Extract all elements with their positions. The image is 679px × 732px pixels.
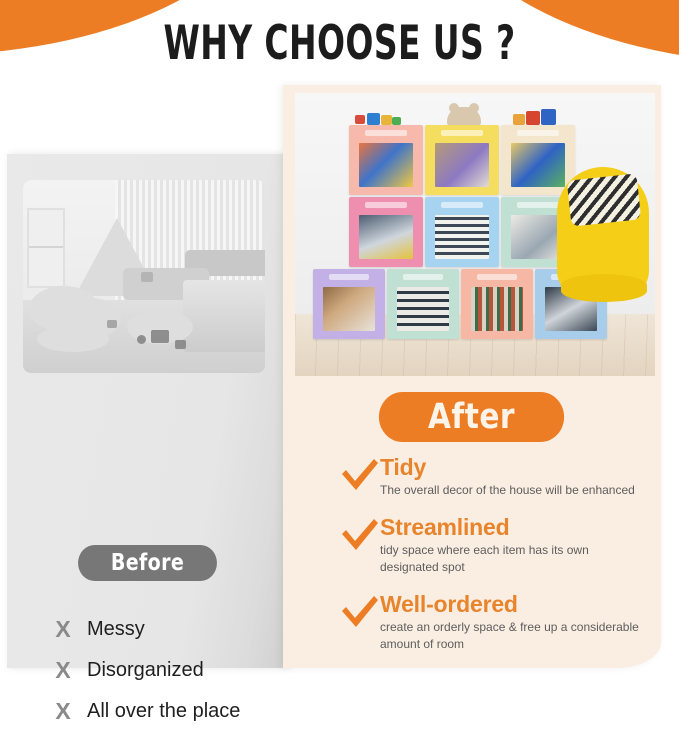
check-mark-icon: [340, 457, 380, 495]
after-photo-toy: [526, 111, 540, 125]
page-title: WHY CHOOSE US ?: [75, 16, 605, 71]
x-mark-icon: X: [50, 618, 76, 641]
after-list: Tidy The overall decor of the house will…: [340, 455, 670, 669]
before-badge: Before: [78, 545, 217, 581]
list-item: X All over the place: [50, 691, 285, 732]
bin-window: [435, 215, 488, 258]
list-item-label: All over the place: [87, 700, 240, 723]
before-photo-bed: [183, 280, 265, 352]
after-badge: After: [379, 392, 564, 442]
after-photo-toy: [392, 117, 401, 125]
after-photo: [295, 93, 655, 376]
bin-handle: [329, 274, 369, 280]
before-photo: [23, 180, 265, 373]
list-item-description: create an orderly space & free up a cons…: [380, 619, 670, 653]
storage-bin: [425, 125, 499, 195]
list-item: Well-ordered create an orderly space & f…: [340, 592, 670, 653]
before-list: X Messy X Disorganized X All over the pl…: [50, 609, 285, 732]
bin-window: [435, 143, 488, 186]
before-photo-shelf: [27, 208, 65, 288]
list-item: Streamlined tidy space where each item h…: [340, 515, 670, 576]
after-photo-toy: [541, 109, 556, 125]
list-item: Tidy The overall decor of the house will…: [340, 455, 670, 499]
x-mark-icon: X: [50, 659, 76, 682]
before-photo-toy: [141, 272, 153, 282]
list-item-label: Disorganized: [87, 659, 204, 682]
list-item-title: Tidy: [380, 454, 426, 480]
storage-bin: [461, 269, 533, 339]
storage-bin: [387, 269, 459, 339]
bin-window: [471, 287, 523, 330]
storage-bin: [313, 269, 385, 339]
bin-handle: [441, 130, 482, 136]
list-item-description: The overall decor of the house will be e…: [380, 482, 645, 499]
list-item-title: Well-ordered: [380, 591, 518, 617]
check-mark-icon: [340, 517, 380, 555]
list-item-description: tidy space where each item has its own d…: [380, 542, 645, 576]
list-item: X Messy: [50, 609, 285, 650]
before-photo-toy: [175, 340, 186, 349]
before-photo-toy: [107, 320, 117, 328]
after-photo-chair-base: [561, 274, 647, 302]
before-panel: Before X Messy X Disorganized X All over…: [7, 154, 288, 668]
bin-window: [397, 287, 449, 330]
x-mark-icon: X: [50, 700, 76, 723]
after-photo-toy: [367, 113, 380, 125]
storage-bin: [425, 197, 499, 267]
list-item-title: Streamlined: [380, 514, 509, 540]
bin-window: [323, 287, 375, 330]
before-photo-toy: [151, 330, 169, 343]
bin-handle: [365, 130, 406, 136]
bin-handle: [403, 274, 443, 280]
storage-bin: [501, 125, 575, 195]
after-photo-toy: [513, 114, 525, 125]
storage-bin: [349, 197, 423, 267]
bin-handle: [517, 202, 558, 208]
bin-window: [359, 215, 412, 258]
bin-window: [511, 143, 564, 186]
bin-handle: [441, 202, 482, 208]
after-photo-yellow-chair: [557, 167, 649, 297]
bin-handle: [365, 202, 406, 208]
before-photo-toy-pile: [37, 326, 109, 352]
bin-window: [359, 143, 412, 186]
bin-handle: [517, 130, 558, 136]
check-mark-icon: [340, 594, 380, 632]
storage-bin: [349, 125, 423, 195]
list-item: X Disorganized: [50, 650, 285, 691]
before-photo-toy: [137, 335, 146, 344]
bin-handle: [477, 274, 517, 280]
after-photo-chevron-pillow: [567, 173, 641, 226]
list-item-label: Messy: [87, 618, 145, 641]
after-photo-toy: [381, 115, 392, 125]
after-photo-toy: [355, 115, 365, 124]
